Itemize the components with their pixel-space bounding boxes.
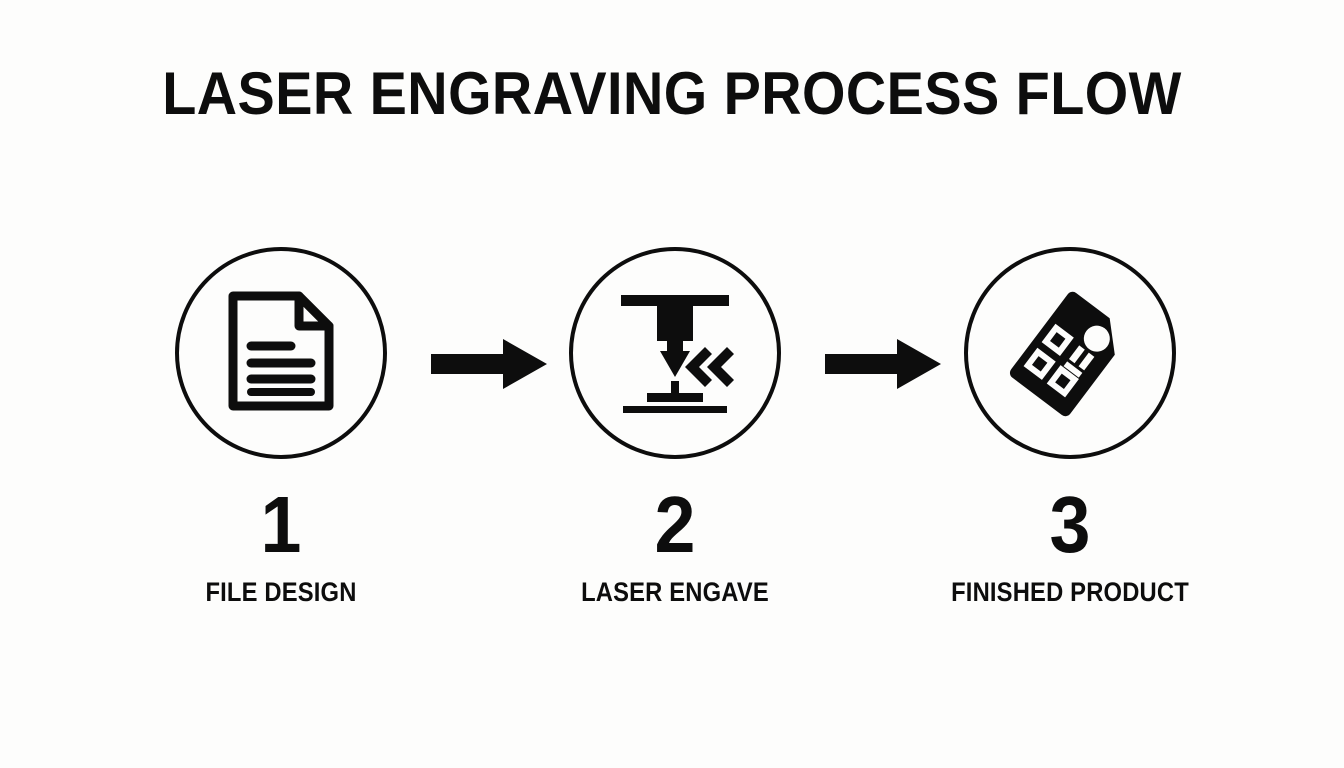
process-flow-diagram: 1 FILE DESIGN 2 LASER	[0, 247, 1344, 627]
step-2-number: 2	[537, 483, 813, 567]
step-3-label: FINISHED PRODUCT	[938, 577, 1202, 607]
step-1-label: FILE DESIGN	[149, 577, 413, 607]
step-1-number: 1	[143, 483, 419, 567]
step-3-icon-circle	[964, 247, 1176, 459]
document-file-icon	[225, 288, 337, 419]
step-2-icon-circle	[569, 247, 781, 459]
engraved-price-tag-icon	[1004, 285, 1136, 422]
step-3-number: 3	[932, 483, 1208, 567]
step-2-label: LASER ENGAVE	[543, 577, 807, 607]
process-step-3[interactable]: 3 FINISHED PRODUCT	[920, 247, 1220, 627]
page-title: LASER ENGRAVING PROCESS FLOW	[47, 62, 1297, 126]
process-step-1[interactable]: 1 FILE DESIGN	[131, 247, 431, 627]
step-1-icon-circle	[175, 247, 387, 459]
laser-head-engraving-icon	[613, 289, 737, 418]
process-step-2[interactable]: 2 LASER ENGAVE	[525, 247, 825, 627]
